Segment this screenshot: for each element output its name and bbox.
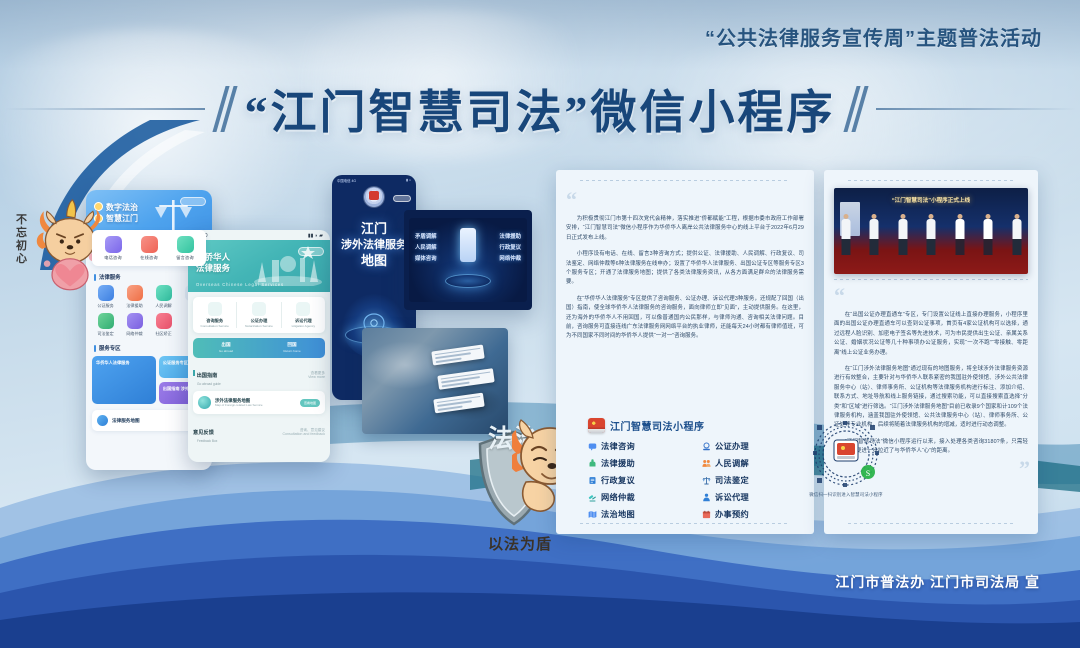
person (897, 214, 908, 258)
aid-icon (127, 285, 143, 301)
phone2-status-bar: 07:20 ▮▮ ◗ ▰ (188, 230, 330, 240)
footer-credit: 江门市普法办 江门市司法局 宣 (835, 572, 1040, 592)
ceremony-people (840, 214, 1022, 258)
litigation-icon (296, 302, 310, 316)
message-icon (177, 236, 194, 253)
card1-dash-bottom (580, 523, 790, 524)
feature-online-arbitration[interactable]: 网络仲裁 (588, 491, 688, 503)
phone1-service-1[interactable]: 法律援助 (121, 285, 148, 309)
phone2-status-icons: ▮▮ ◗ ▰ (308, 233, 323, 239)
phone2-hero: 华侨华人法律服务 Overseas Chinese Legal Services (188, 240, 330, 292)
mascot2-caption: 以法为盾 (488, 533, 552, 554)
review-icon (588, 476, 597, 485)
phone2-view-more[interactable]: 查看更多View more (308, 371, 325, 380)
phone2-abroad-return-bar: 出国Go abroad 回国Return home (193, 338, 325, 358)
feature-rule-of-law-map[interactable]: 法治地图 (588, 508, 688, 520)
phone2-service-cards: 咨询服务 Consultation Service 公证办理 Notarizat… (193, 297, 325, 333)
phone1-top-service-1[interactable]: 在线咨询 (131, 236, 167, 261)
world-landmarks-illustration (248, 242, 326, 286)
phone1-top-services: 电话咨询 在线咨询 留言咨询 (92, 230, 206, 266)
gavel-icon (588, 493, 597, 502)
phone2-hero-subtitle: Overseas Chinese Legal Services (196, 282, 284, 287)
mini-program-qr-code[interactable]: S (812, 420, 880, 488)
phone1-top-service-label: 电话咨询 (95, 255, 131, 261)
feature-legal-aid[interactable]: 法律援助 (588, 457, 688, 469)
phone-mockup-overseas: 07:20 ▮▮ ◗ ▰ 华侨华人法律服务 Overseas Chinese (188, 230, 330, 462)
consultation-icon (208, 302, 222, 316)
feature-notarization[interactable]: 公证办理 (702, 440, 802, 452)
card2-quote-open: “ (834, 288, 1028, 304)
card1-paragraph-2: 在“华侨华人法律服务”专区提供了咨询服务、公证办理、诉讼代理3种服务，还规配了回… (566, 295, 804, 342)
feature-litigation-agency[interactable]: 诉讼代理 (702, 491, 802, 503)
phone3-status-icons: ▮ ◗ (406, 178, 411, 183)
mascot1-caption: 不忘初心 (16, 214, 30, 266)
person (926, 214, 937, 258)
card2-dash-mini (834, 279, 1028, 280)
card1-dash-top (580, 180, 790, 181)
slash-left-icon (219, 86, 231, 132)
mini-program-feature-grid: 法律咨询 公证办理 法律援助 人民调解 行政复议 司法鉴定 网络仲裁 (588, 440, 802, 520)
svg-text:S: S (866, 469, 870, 478)
card1-paragraph-0: 为积极贯彻江门市第十四次党代会精神，落实推进“侨都赋能”工程，根据市委市政府工作… (566, 215, 804, 243)
card1-paragraph-1: 小程序设有电话、在线、留言3种咨询方式；提供公证、法律援助、人民调解、行政复议、… (566, 250, 804, 288)
banner-right-labels: 法律援助行政复议网络仲裁 (499, 232, 521, 265)
qr-caption: 微信扫一扫识别进入智慧司法小程序 (800, 492, 892, 498)
phone1-service-2[interactable]: 人民调解 (150, 285, 177, 309)
banner-platform-icon (445, 274, 491, 288)
document-snippet-2 (437, 368, 494, 390)
phone2-guide-label: 出国指南 Go abroad guide (193, 364, 221, 386)
phone-icon (105, 236, 122, 253)
feature-people-mediation[interactable]: 人民调解 (702, 457, 802, 469)
phone1-zone-overseas[interactable]: 华侨华人法律服务 (92, 356, 156, 404)
phone2-card-consultation[interactable]: 咨询服务 Consultation Service (193, 302, 237, 328)
national-emblem-icon (364, 187, 384, 207)
person (1011, 214, 1022, 258)
shield-icon (98, 313, 114, 329)
phone2-go-abroad[interactable]: 出国Go abroad (193, 342, 259, 354)
card2-paragraph-0: 在“出国公证办理直通车”专区，专门设置公证线上直接办理服务，小程序里面的出国公证… (834, 311, 1028, 358)
card1-quote-open: “ (566, 192, 804, 208)
mini-program-feature-block: 江门智慧司法小程序 法律咨询 公证办理 法律援助 人民调解 行政复议 司法鉴定 (588, 418, 802, 520)
phone1-top-service-label: 留言咨询 (167, 255, 203, 261)
feature-banner-dark: 矛盾调解人民调解媒体咨询 法律援助行政复议网络仲裁 (404, 210, 532, 310)
page-title: “江门智慧司法”微信小程序 (245, 76, 836, 142)
person (869, 214, 880, 258)
phone1-map-label: 法律服务地图 (112, 418, 140, 424)
launch-ceremony-photo: “江门智慧司法”小程序正式上线 (834, 188, 1028, 274)
event-kicker: “公共法律服务宣传周”主题普法活动 (705, 22, 1042, 51)
mediation-icon (156, 285, 172, 301)
globe-icon (198, 396, 211, 409)
hand-icon (588, 459, 597, 468)
feature-administrative-review[interactable]: 行政复议 (588, 474, 688, 486)
phone2-feedback-row[interactable]: 意见反馈 Feedback Box 咨询、意见建议 Consultation a… (193, 421, 325, 443)
phone1-section2-title: 服务专区 (99, 344, 121, 352)
phone1-service-4[interactable]: 网络仲裁 (121, 313, 148, 337)
chat-icon (588, 442, 597, 451)
qr-center-emblem-icon (834, 440, 858, 461)
banner-left-labels: 矛盾调解人民调解媒体咨询 (415, 232, 437, 265)
phone2-guide-row: 出国指南 Go abroad guide 查看更多View more (193, 364, 325, 386)
community-icon (156, 313, 172, 329)
card2-dash-bottom (848, 523, 1014, 524)
phone3-status-time: 中国电信 4G (337, 178, 356, 183)
feature-appointment[interactable]: 办事预约 (702, 508, 802, 520)
qr-code-block: S 微信扫一扫识别进入智慧司法小程序 (800, 420, 892, 498)
person (983, 214, 994, 258)
mini-program-header: 江门智慧司法小程序 (588, 418, 802, 433)
phone2-return-home[interactable]: 回国Return home (259, 342, 325, 354)
poster-root: “公共法律服务宣传周”主题普法活动 “江门智慧司法”微信小程序 数字法治 智慧江… (0, 0, 1080, 648)
title-rule-left (5, 108, 205, 110)
phone1-top-service-0[interactable]: 电话咨询 (95, 236, 131, 261)
people-icon (702, 459, 711, 468)
feature-legal-consultation[interactable]: 法律咨询 (588, 440, 688, 452)
national-emblem-icon (588, 418, 605, 433)
map-icon (97, 415, 108, 426)
arbitration-icon (127, 313, 143, 329)
phone2-card-litigation[interactable]: 诉讼代理 Litigation Agency (282, 302, 325, 328)
phone3-status-bar: 中国电信 4G ▮ ◗ (332, 175, 416, 183)
phone3-capsule-icon[interactable] (393, 195, 411, 202)
notarization-icon (252, 302, 266, 316)
person (840, 214, 851, 258)
banner-phone-icon (460, 228, 476, 262)
phone1-top-service-label: 在线咨询 (131, 255, 167, 261)
qr-code-icon: S (812, 420, 880, 488)
ceremony-banner-text: “江门智慧司法”小程序正式上线 (892, 196, 970, 204)
phone2-map-pill[interactable]: 查看地图 (300, 399, 320, 407)
phone1-top-service-2[interactable]: 留言咨询 (167, 236, 203, 261)
chat-icon (141, 236, 158, 253)
map-icon (588, 510, 597, 519)
scale-icon (702, 476, 711, 485)
phone1-service-3[interactable]: 司法鉴定 (92, 313, 119, 337)
feature-judicial-appraisal[interactable]: 司法鉴定 (702, 474, 802, 486)
document-snippet-1 (431, 344, 484, 365)
mini-program-title: 江门智慧司法小程序 (610, 418, 705, 433)
phone2-map-item[interactable]: 涉外法律服务地图 Map of Foreign-related Law Serv… (193, 391, 325, 414)
title-rule-right (876, 108, 1076, 110)
stamp-icon (702, 442, 711, 451)
slash-right-icon (850, 86, 862, 132)
title-block: “江门智慧司法”微信小程序 (0, 76, 1080, 142)
phone2-feedback-label: 意见反馈 (193, 430, 214, 436)
phone1-service-5[interactable]: 社区矫正 (150, 313, 177, 337)
phone2-card-notarization[interactable]: 公证办理 Notarization Service (237, 302, 281, 328)
calendar-icon (702, 510, 711, 519)
card2-dash-top (848, 180, 1014, 181)
lawyer-icon (702, 493, 711, 502)
person (954, 214, 965, 258)
